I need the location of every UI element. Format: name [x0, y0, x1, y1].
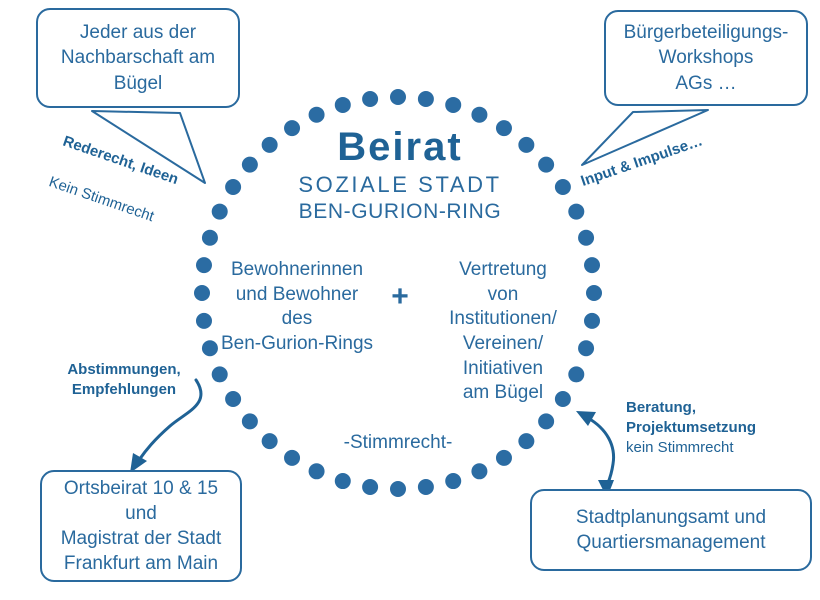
ring-dot — [262, 433, 278, 449]
ring-dot — [309, 107, 325, 123]
diagram-canvas: Jeder aus der Nachbarschaft am Bügel Bür… — [0, 0, 820, 600]
ring-dot — [518, 137, 534, 153]
ring-dot — [471, 107, 487, 123]
bubble-participation-text: Bürgerbeteiligungs- Workshops AGs … — [618, 20, 795, 95]
ring-dot — [202, 230, 218, 246]
ring-dot — [284, 120, 300, 136]
arrow-beratung-head-up — [576, 411, 596, 426]
ring-dot — [555, 179, 571, 195]
ring-dot — [335, 473, 351, 489]
ring-dot — [335, 97, 351, 113]
ring-dot — [578, 230, 594, 246]
ring-dot — [586, 285, 602, 301]
ring-dot — [555, 391, 571, 407]
ring-dot — [196, 257, 212, 273]
box-stadtplanungsamt-text: Stadtplanungsamt und Quartiersmanagement — [570, 505, 772, 555]
ring-dot — [202, 340, 218, 356]
ring-dot — [568, 366, 584, 382]
ring-dot — [194, 285, 210, 301]
ring-dot — [496, 120, 512, 136]
ring-dot — [262, 137, 278, 153]
bubble-tail-participation — [582, 110, 708, 165]
ring-dot — [496, 450, 512, 466]
arrow-abstimmungen-path — [139, 380, 201, 460]
ring-dot — [568, 204, 584, 220]
ring-dot — [196, 313, 212, 329]
ring-dot — [242, 413, 258, 429]
ring-dot — [362, 479, 378, 495]
ring-dot — [518, 433, 534, 449]
ring-dot — [418, 479, 434, 495]
ring-dot — [390, 89, 406, 105]
box-stadtplanungsamt[interactable]: Stadtplanungsamt und Quartiersmanagement — [530, 489, 812, 571]
arrow-beratung-path — [588, 418, 614, 488]
bubble-neighbourhood[interactable]: Jeder aus der Nachbarschaft am Bügel — [36, 8, 240, 108]
ring-dot — [225, 391, 241, 407]
ring-dot — [445, 97, 461, 113]
ring-dot — [538, 413, 554, 429]
ring-dot — [471, 463, 487, 479]
ring-dot — [538, 157, 554, 173]
ring-dot — [212, 204, 228, 220]
ring-dot — [362, 91, 378, 107]
box-ortsbeirat-text: Ortsbeirat 10 & 15 und Magistrat der Sta… — [55, 476, 228, 576]
dotted-ring — [194, 89, 602, 497]
box-ortsbeirat[interactable]: Ortsbeirat 10 & 15 und Magistrat der Sta… — [40, 470, 242, 582]
ring-dot — [309, 463, 325, 479]
ring-dot — [242, 157, 258, 173]
ring-dot — [578, 340, 594, 356]
bubble-tail-neighbourhood — [92, 111, 205, 183]
ring-dot — [584, 257, 600, 273]
bubble-neighbourhood-text: Jeder aus der Nachbarschaft am Bügel — [55, 20, 221, 95]
ring-dot — [445, 473, 461, 489]
ring-dot — [390, 481, 406, 497]
bubble-participation[interactable]: Bürgerbeteiligungs- Workshops AGs … — [604, 10, 808, 106]
ring-dot — [418, 91, 434, 107]
ring-dot — [584, 313, 600, 329]
ring-dot — [225, 179, 241, 195]
ring-dot — [212, 366, 228, 382]
ring-dot — [284, 450, 300, 466]
